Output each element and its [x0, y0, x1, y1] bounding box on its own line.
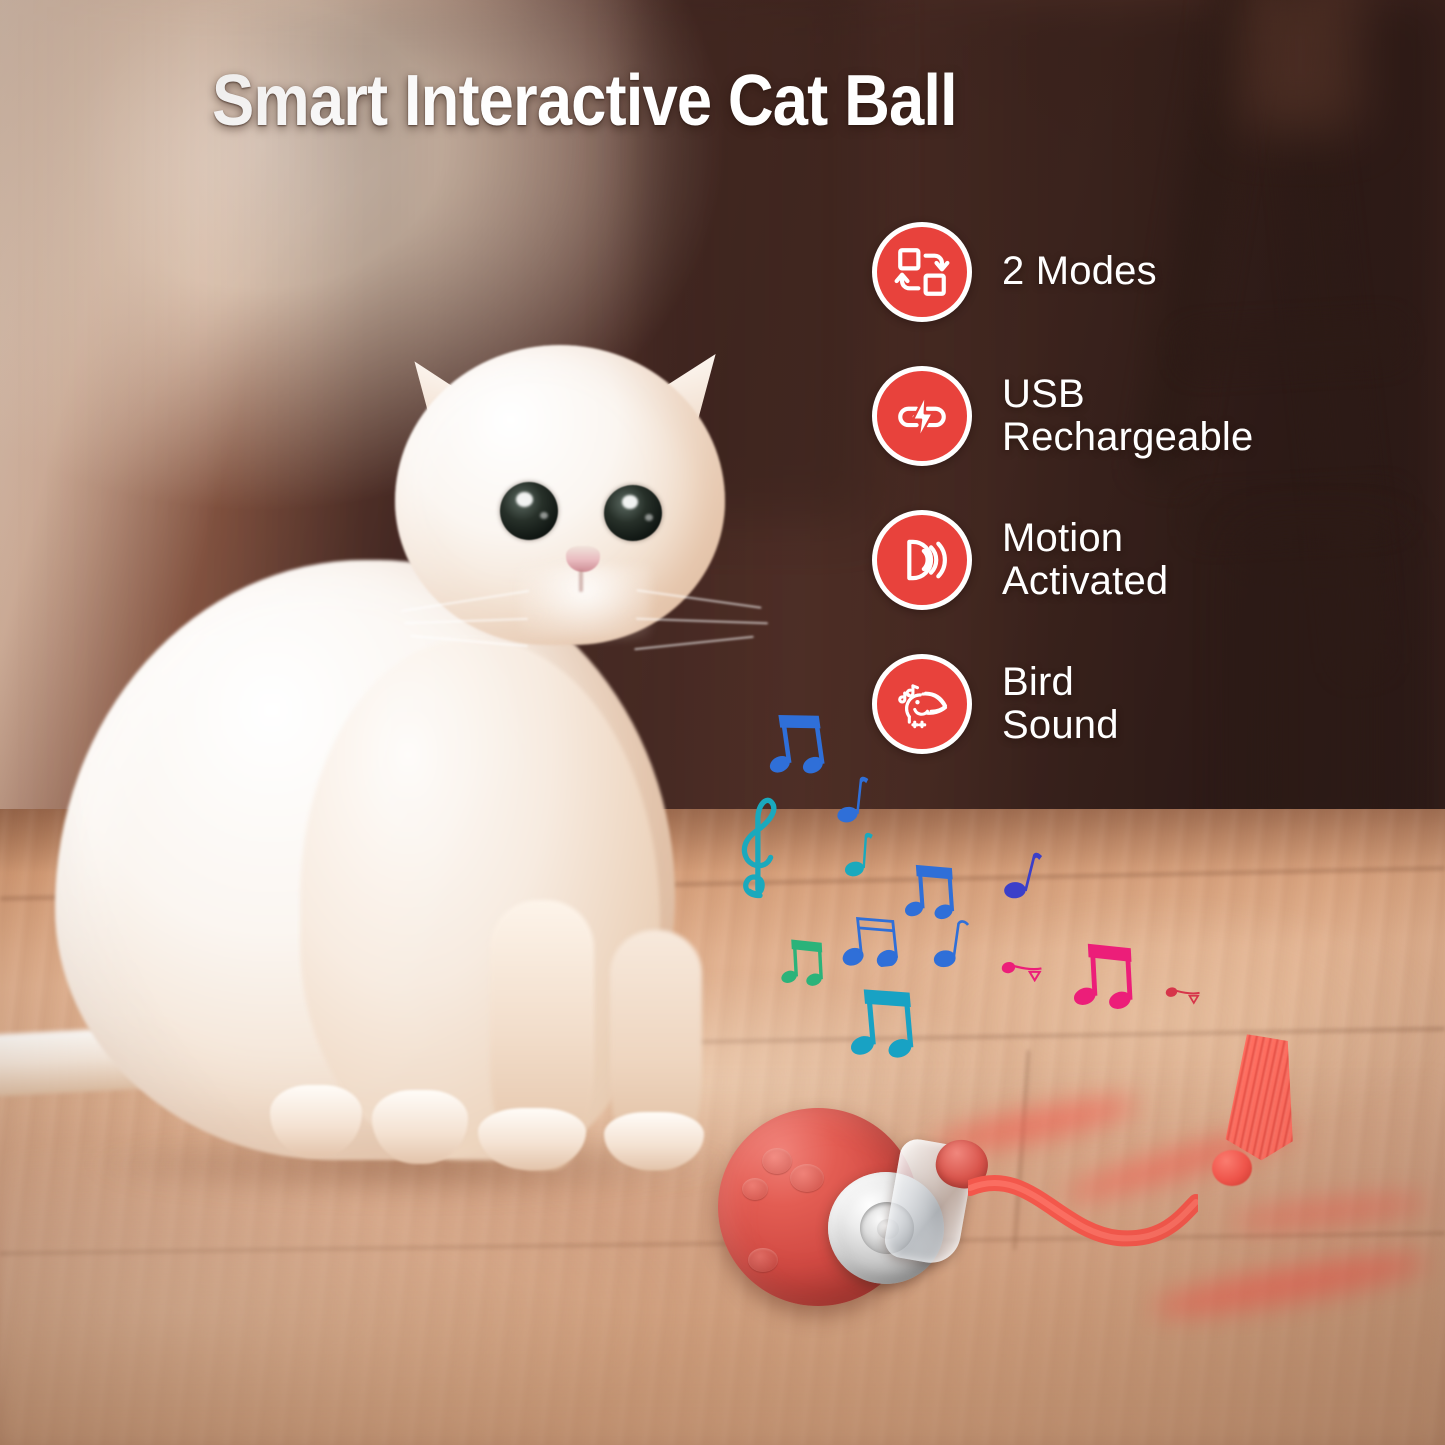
cat-eye-glint-left	[540, 512, 548, 519]
page-title: Smart Interactive Cat Ball	[212, 60, 957, 142]
two-modes-icon	[872, 222, 972, 322]
paw-emboss-4	[748, 1248, 778, 1272]
cat-muzzle	[520, 566, 650, 638]
music-note	[761, 702, 828, 781]
feature-item-modes[interactable]: 2 Modes	[872, 222, 1342, 322]
music-note	[1070, 931, 1136, 1016]
motion-sensor-icon	[872, 510, 972, 610]
cat-eye-highlight-left	[516, 492, 533, 507]
cat-eye-highlight-right	[622, 495, 638, 509]
music-note	[1000, 960, 1044, 982]
feature-label-modes: 2 Modes	[1002, 250, 1157, 293]
music-note	[835, 770, 875, 829]
rope-tassel-knot	[1212, 1150, 1252, 1186]
feature-label-usb-line2: Rechargeable	[1002, 416, 1253, 459]
usb-rechargeable-icon	[872, 366, 972, 466]
feature-list: 2 Modes USB Rechargeable	[872, 222, 1342, 798]
feature-label-bird: Bird Sound	[1002, 661, 1119, 747]
music-note	[931, 914, 974, 974]
cat-eye-right	[604, 485, 662, 541]
cat-eye-left	[500, 482, 558, 540]
ball-rope	[968, 1146, 1198, 1266]
feature-label-motion-line2: Activated	[1002, 560, 1168, 603]
feature-label-bird-line1: Bird	[1002, 661, 1119, 704]
cat-eye-glint-right	[645, 514, 653, 521]
feature-item-motion[interactable]: Motion Activated	[872, 510, 1342, 610]
paw-emboss-1	[762, 1148, 792, 1174]
music-note	[778, 929, 825, 993]
bird-sound-icon	[872, 654, 972, 754]
music-note	[844, 975, 917, 1066]
feature-item-bird[interactable]: Bird Sound	[872, 654, 1342, 754]
feature-label-usb-line1: USB	[1002, 373, 1253, 416]
feature-label-usb: USB Rechargeable	[1002, 373, 1253, 459]
paw-emboss-3	[742, 1178, 768, 1200]
music-note	[1165, 985, 1201, 1005]
product-hero-image: Smart Interactive Cat Ball 2 Modes	[0, 0, 1445, 1445]
music-note	[843, 827, 879, 883]
feature-label-motion-line1: Motion	[1002, 517, 1168, 560]
cat-philtrum	[579, 570, 583, 592]
music-note	[736, 794, 784, 904]
music-note	[837, 905, 903, 971]
feature-item-usb[interactable]: USB Rechargeable	[872, 366, 1342, 466]
feature-label-bird-line2: Sound	[1002, 704, 1119, 747]
cat-ball-toy[interactable]	[700, 1090, 1120, 1340]
feature-label-modes-line1: 2 Modes	[1002, 250, 1157, 293]
paw-emboss-2	[790, 1164, 824, 1192]
feature-label-motion: Motion Activated	[1002, 517, 1168, 603]
window-light-patch	[1240, 0, 1360, 130]
